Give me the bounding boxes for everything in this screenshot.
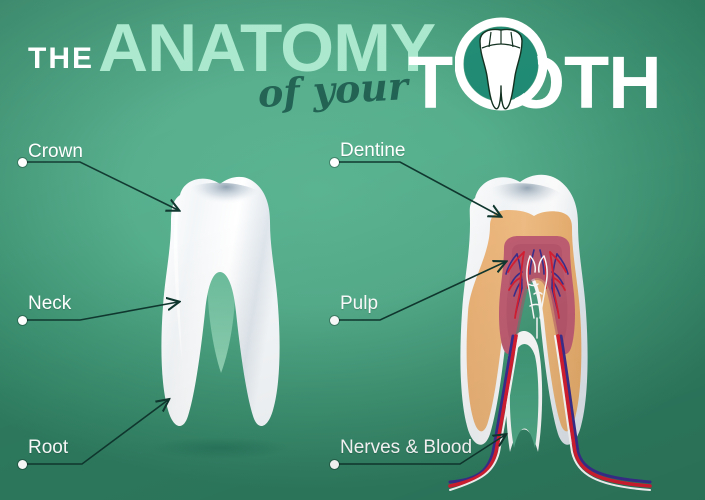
marker-dot-dentine[interactable] (330, 158, 339, 167)
tooth-logo-icon (455, 8, 547, 120)
title-the: THE (28, 44, 94, 74)
marker-dot-root[interactable] (18, 460, 27, 469)
title-of-your: of your (257, 67, 409, 113)
label-dentine: Dentine (340, 141, 406, 160)
title-block: THE ANATOMY of your TOOTH (0, 0, 705, 130)
label-neck: Neck (28, 294, 71, 313)
whole-tooth-illustration (120, 160, 320, 460)
marker-dot-neck[interactable] (18, 316, 27, 325)
label-root: Root (28, 438, 68, 457)
marker-dot-nerves[interactable] (330, 460, 339, 469)
marker-dot-pulp[interactable] (330, 316, 339, 325)
label-pulp: Pulp (340, 294, 378, 313)
title-tooth-prefix: T (408, 41, 451, 124)
tooth-cross-section-illustration (440, 160, 705, 500)
tooth-shadow (150, 437, 290, 459)
label-crown: Crown (28, 142, 83, 161)
label-nerves-blood: Nerves & Blood (340, 438, 472, 457)
infographic-canvas: THE ANATOMY of your TOOTH (0, 0, 705, 500)
marker-dot-crown[interactable] (18, 158, 27, 167)
